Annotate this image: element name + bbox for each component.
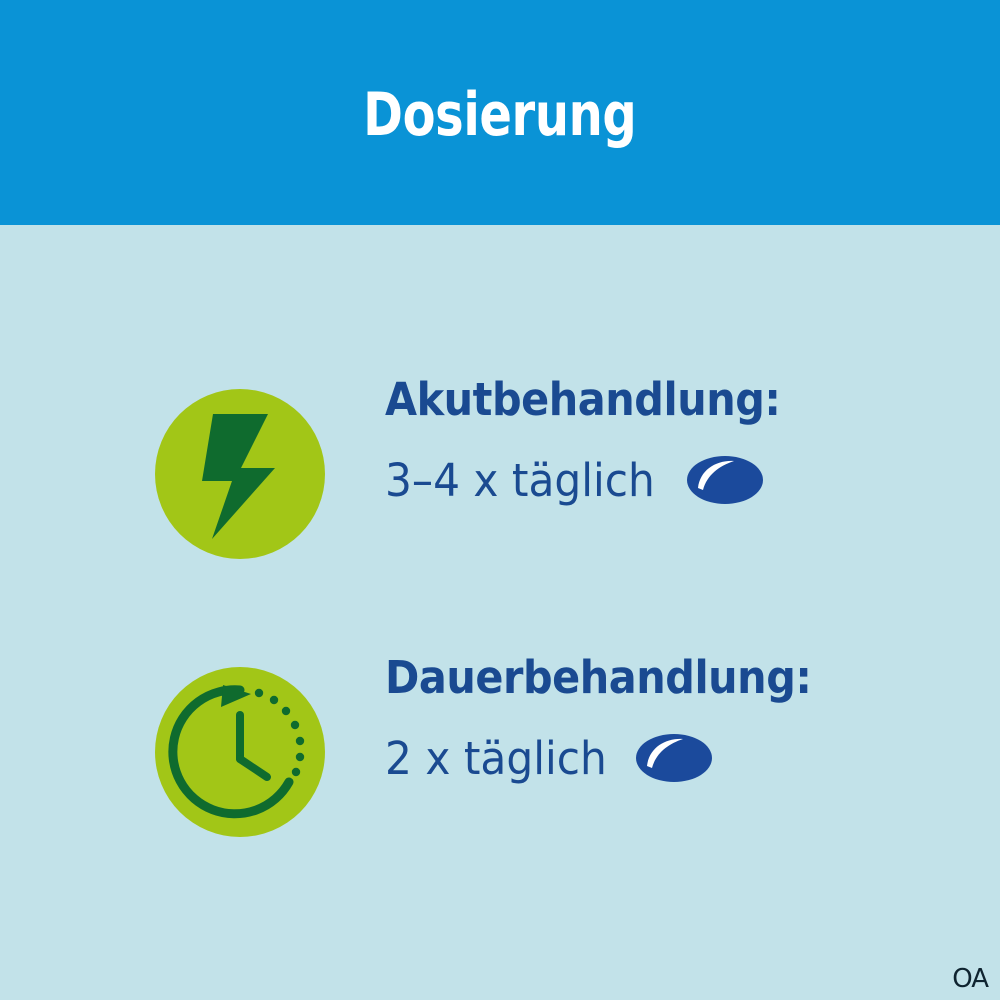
page-title: Dosierung: [363, 85, 636, 145]
dosage-text-maintenance: Dauerbehandlung: 2 x täglich: [385, 652, 965, 852]
dosage-frequency-maintenance: 2 x täglich: [385, 732, 713, 784]
capsule-icon: [635, 732, 713, 784]
dosage-frequency-acute: 3–4 x täglich: [385, 454, 764, 506]
dosage-text-acute: Akutbehandlung: 3–4 x täglich: [385, 374, 965, 574]
clock-arrow-icon: [155, 667, 325, 837]
content-area: Akutbehandlung: 3–4 x täglich: [0, 225, 1000, 1000]
frequency-text-acute: 3–4 x täglich: [385, 458, 655, 503]
frequency-text-maintenance: 2 x täglich: [385, 736, 607, 781]
dosage-label-acute: Akutbehandlung:: [385, 377, 780, 422]
dosage-label-maintenance: Dauerbehandlung:: [385, 655, 811, 700]
lightning-bolt-badge: [155, 389, 325, 559]
lightning-bolt-icon: [155, 389, 325, 559]
header-banner: Dosierung: [0, 0, 1000, 225]
dosage-row-maintenance: Dauerbehandlung: 2 x täglich: [0, 652, 1000, 852]
dosage-infographic-card: Dosierung Akutbehandlung: 3–4 x täglich: [0, 0, 1000, 1000]
watermark-logo: OA: [952, 966, 988, 992]
capsule-icon: [686, 454, 764, 506]
dosage-row-acute: Akutbehandlung: 3–4 x täglich: [0, 374, 1000, 574]
clock-arrow-badge: [155, 667, 325, 837]
